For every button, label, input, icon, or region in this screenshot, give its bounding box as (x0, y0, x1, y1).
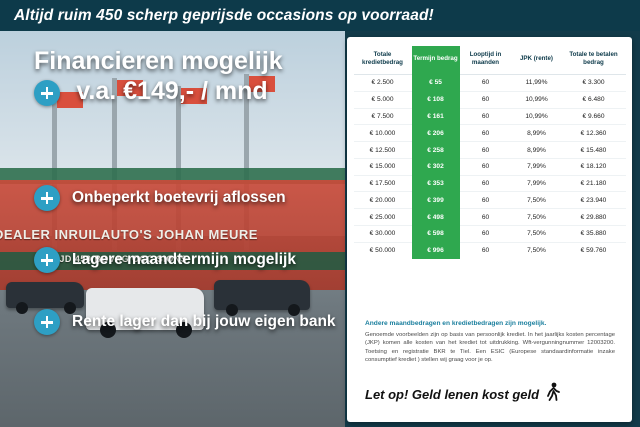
benefits-list: Onbeperkt boetevrij aflossen Lagere maan… (34, 185, 344, 371)
top-banner: Altijd ruim 450 scherp geprijsde occasio… (0, 0, 640, 31)
cell-apr: 7,50% (512, 192, 562, 209)
cell-apr: 10,99% (512, 108, 562, 125)
cell-apr: 10,99% (512, 91, 562, 108)
headline-line-1: Financieren mogelijk (34, 46, 334, 76)
cell-total-payable: € 29.880 (562, 209, 626, 226)
walking-person-icon (545, 382, 561, 407)
cell-term: 60 (460, 192, 512, 209)
cell-total-payable: € 3.300 (562, 75, 626, 92)
cell-term: 60 (460, 125, 512, 142)
cell-monthly: € 108 (412, 91, 460, 108)
cell-term: 60 (460, 209, 512, 226)
cell-total-credit: € 12.500 (354, 142, 412, 159)
cell-monthly: € 161 (412, 108, 460, 125)
cell-total-payable: € 6.480 (562, 91, 626, 108)
cell-term: 60 (460, 75, 512, 92)
cell-total-payable: € 59.760 (562, 242, 626, 258)
cell-term: 60 (460, 91, 512, 108)
cell-monthly: € 55 (412, 75, 460, 92)
cell-monthly: € 206 (412, 125, 460, 142)
table-row: € 20.000 € 399 60 7,50% € 23.940 (354, 192, 626, 209)
cell-monthly: € 258 (412, 142, 460, 159)
cell-total-credit: € 50.000 (354, 242, 412, 258)
cell-monthly: € 353 (412, 175, 460, 192)
col-header-total-credit: Totale kredietbedrag (354, 46, 412, 75)
cell-term: 60 (460, 142, 512, 159)
cell-term: 60 (460, 158, 512, 175)
cell-total-credit: € 25.000 (354, 209, 412, 226)
cell-total-credit: € 5.000 (354, 91, 412, 108)
table-row: € 15.000 € 302 60 7,99% € 18.120 (354, 158, 626, 175)
table-row: € 30.000 € 598 60 7,50% € 35.880 (354, 226, 626, 243)
cell-total-payable: € 23.940 (562, 192, 626, 209)
cell-total-credit: € 15.000 (354, 158, 412, 175)
cell-apr: 7,50% (512, 226, 562, 243)
cell-total-payable: € 35.880 (562, 226, 626, 243)
table-row: € 50.000 € 996 60 7,50% € 59.760 (354, 242, 626, 258)
cell-term: 60 (460, 175, 512, 192)
cell-total-credit: € 30.000 (354, 226, 412, 243)
cell-monthly: € 996 (412, 242, 460, 258)
cell-monthly: € 598 (412, 226, 460, 243)
disclaimer-title: Andere maandbedragen en kredietbedragen … (365, 320, 615, 327)
table-row: € 10.000 € 206 60 8,99% € 12.360 (354, 125, 626, 142)
cell-apr: 8,99% (512, 125, 562, 142)
list-item-label: Rente lager dan bij jouw eigen bank (72, 313, 336, 331)
cell-total-payable: € 9.660 (562, 108, 626, 125)
col-header-monthly: Termijn bedrag (412, 46, 460, 75)
poster: DEALER INRUILAUTO'S JOHAN MEURE ALTIJD 4… (0, 0, 640, 427)
cell-monthly: € 498 (412, 209, 460, 226)
headline-line-2: v.a. €149,- / mnd (34, 76, 334, 106)
cell-total-credit: € 17.500 (354, 175, 412, 192)
col-header-total-payable: Totale te betalen bedrag (562, 46, 626, 75)
disclaimer: Andere maandbedragen en kredietbedragen … (365, 320, 615, 365)
rates-card: Totale kredietbedrag Termijn bedrag Loop… (347, 37, 632, 422)
cell-apr: 7,99% (512, 158, 562, 175)
cell-monthly: € 399 (412, 192, 460, 209)
cell-apr: 8,99% (512, 142, 562, 159)
cell-total-payable: € 15.480 (562, 142, 626, 159)
list-item: Rente lager dan bij jouw eigen bank (34, 309, 344, 335)
table-row: € 2.500 € 55 60 11,99% € 3.300 (354, 75, 626, 92)
table-row: € 17.500 € 353 60 7,99% € 21.180 (354, 175, 626, 192)
col-header-term: Looptijd in maanden (460, 46, 512, 75)
cell-term: 60 (460, 242, 512, 258)
plus-icon (34, 247, 60, 273)
table-row: € 25.000 € 498 60 7,50% € 29.880 (354, 209, 626, 226)
wheel (16, 302, 28, 314)
cell-total-credit: € 20.000 (354, 192, 412, 209)
cell-total-payable: € 18.120 (562, 158, 626, 175)
warning-block: Let op! Geld lenen kost geld (365, 382, 617, 407)
cell-total-payable: € 21.180 (562, 175, 626, 192)
cell-term: 60 (460, 108, 512, 125)
list-item-label: Lagere maandtermijn mogelijk (72, 251, 296, 269)
list-item: Onbeperkt boetevrij aflossen (34, 185, 344, 211)
table-row: € 5.000 € 108 60 10,99% € 6.480 (354, 91, 626, 108)
cell-apr: 7,50% (512, 209, 562, 226)
cell-monthly: € 302 (412, 158, 460, 175)
plus-icon (34, 309, 60, 335)
cell-apr: 7,99% (512, 175, 562, 192)
cell-total-credit: € 2.500 (354, 75, 412, 92)
rates-table: Totale kredietbedrag Termijn bedrag Loop… (354, 46, 626, 259)
banner-text: Altijd ruim 450 scherp geprijsde occasio… (0, 7, 434, 25)
cell-apr: 7,50% (512, 242, 562, 258)
list-item: Lagere maandtermijn mogelijk (34, 247, 344, 273)
cell-total-payable: € 12.360 (562, 125, 626, 142)
cell-term: 60 (460, 226, 512, 243)
col-header-apr: JPK (rente) (512, 46, 562, 75)
table-row: € 12.500 € 258 60 8,99% € 15.480 (354, 142, 626, 159)
plus-icon (34, 185, 60, 211)
table-header-row: Totale kredietbedrag Termijn bedrag Loop… (354, 46, 626, 75)
table-row: € 7.500 € 161 60 10,99% € 9.660 (354, 108, 626, 125)
warning-text: Let op! Geld lenen kost geld (365, 387, 539, 402)
cell-total-credit: € 7.500 (354, 108, 412, 125)
list-item-label: Onbeperkt boetevrij aflossen (72, 189, 286, 207)
disclaimer-body: Genoemde voorbeelden zijn op basis van p… (365, 331, 615, 365)
headline: Financieren mogelijk v.a. €149,- / mnd (34, 46, 334, 106)
cell-apr: 11,99% (512, 75, 562, 92)
cell-total-credit: € 10.000 (354, 125, 412, 142)
